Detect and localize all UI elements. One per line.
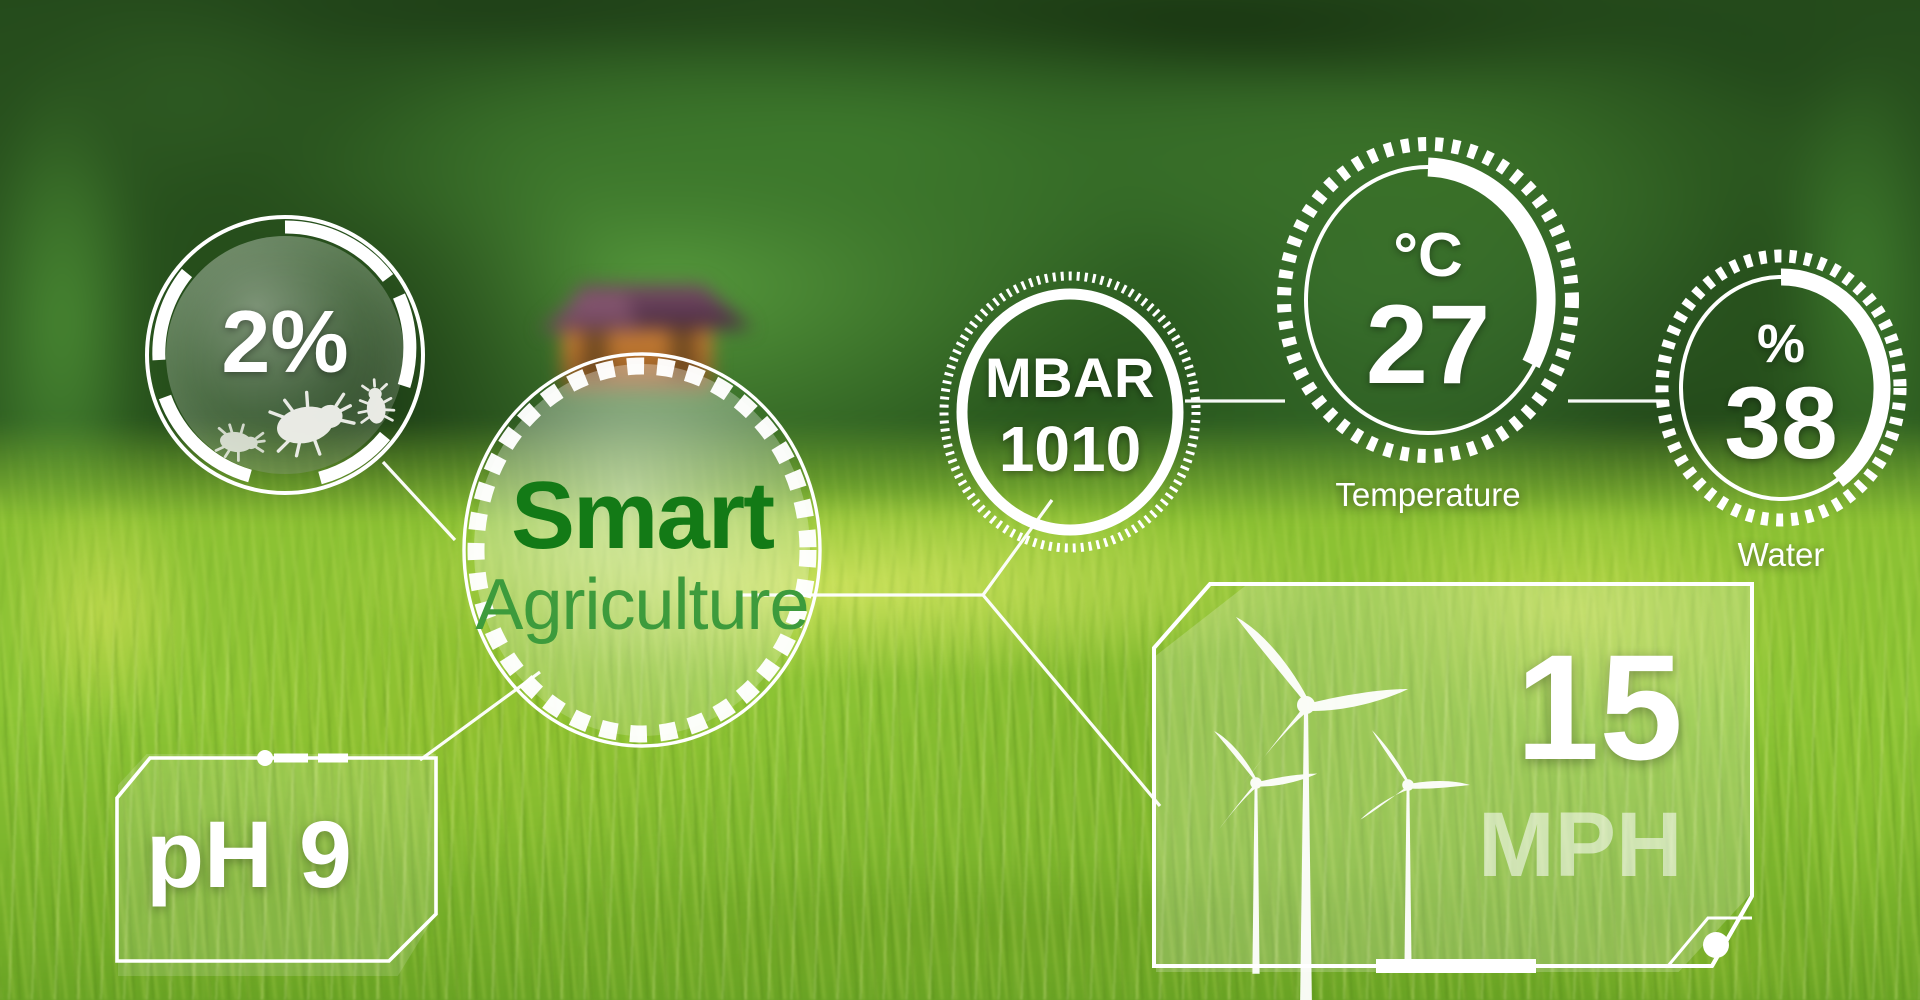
center-title: Smart	[511, 468, 773, 564]
pressure-value: 1010	[999, 420, 1141, 479]
pest-gauge[interactable]: 2%	[140, 210, 430, 500]
ph-value: pH 9	[146, 808, 352, 903]
insects-icon	[140, 210, 430, 500]
wind-panel[interactable]: 15 MPH	[1148, 578, 1758, 1000]
ph-panel[interactable]: pH 9	[112, 748, 442, 994]
center-subtitle: Agriculture	[475, 568, 808, 644]
temperature-caption: Temperature	[1278, 476, 1578, 514]
water-gauge[interactable]: % 38 Water	[1656, 250, 1906, 530]
temperature-unit-label: °C	[1393, 220, 1463, 291]
smart-agriculture-infographic: 2%	[0, 0, 1920, 1000]
center-badge[interactable]: Smart Agriculture	[452, 340, 832, 760]
temperature-value: 27	[1366, 293, 1491, 396]
water-caption: Water	[1656, 536, 1906, 574]
temperature-gauge[interactable]: °C 27 Temperature	[1278, 140, 1578, 470]
pressure-unit-label: MBAR	[985, 345, 1155, 410]
pressure-gauge[interactable]: MBAR 1010	[940, 272, 1200, 552]
hud-overlay: 2%	[0, 0, 1920, 1000]
connector-hub-to-wind	[983, 595, 1160, 806]
water-value: 38	[1724, 377, 1837, 471]
wind-value: 15	[1516, 640, 1683, 775]
wind-unit-label: MPH	[1478, 804, 1682, 887]
